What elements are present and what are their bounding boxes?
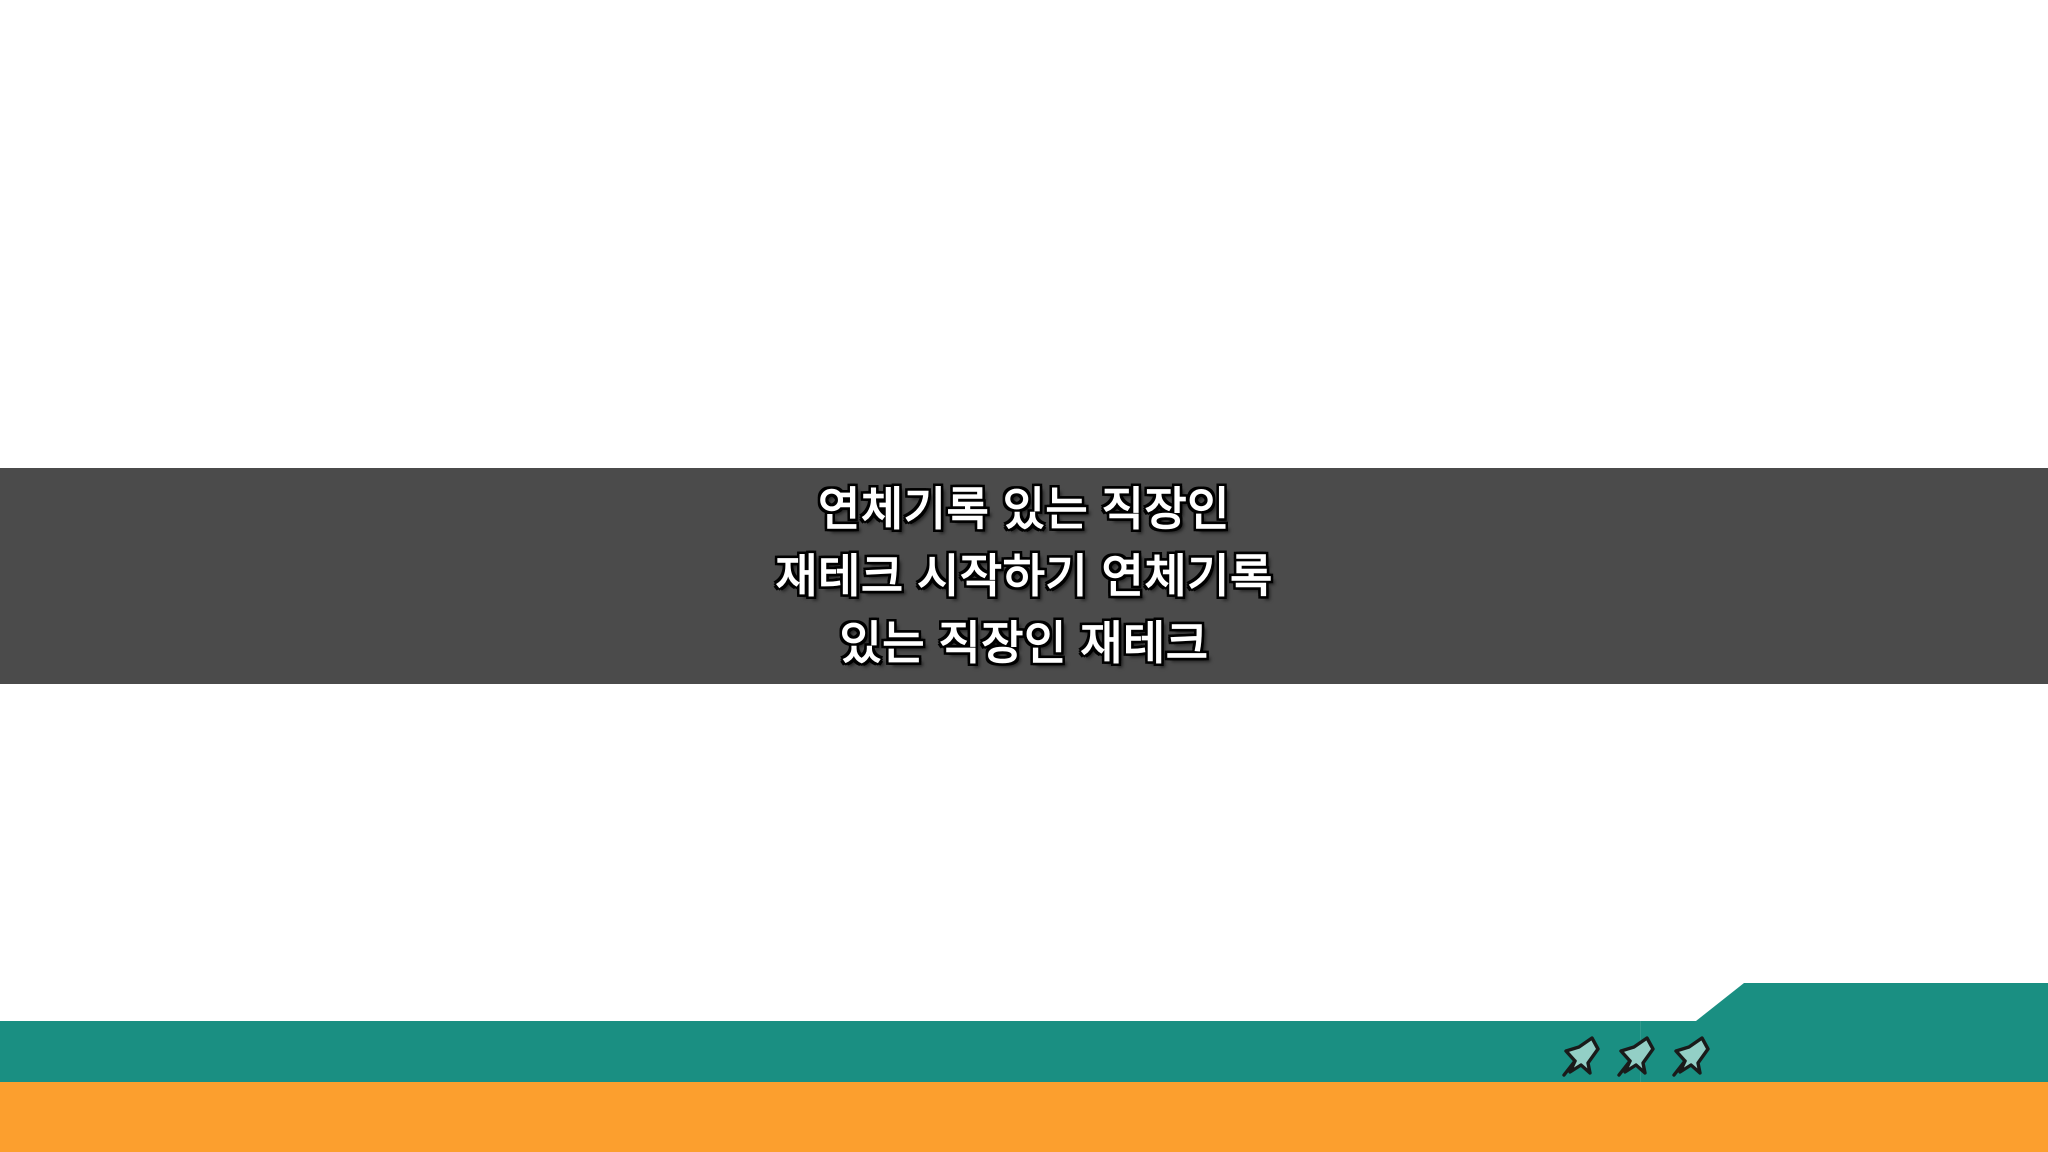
title-line-3: 있는 직장인 재테크 — [839, 610, 1208, 677]
title-line-2: 재테크 시작하기 연체기록 — [775, 543, 1273, 610]
sparkle-pin-icon-1[interactable] — [1562, 1033, 1600, 1077]
title-banner: 연체기록 있는 직장인 재테크 시작하기 연체기록 있는 직장인 재테크 — [0, 468, 2048, 684]
sparkle-pin-icon-2[interactable] — [1617, 1033, 1655, 1077]
teal-raised-tab — [1696, 983, 2048, 1082]
top-blank-area — [0, 0, 2048, 468]
middle-blank-area — [0, 684, 2048, 1021]
title-line-1: 연체기록 있는 직장인 — [818, 476, 1230, 543]
sparkle-pin-icon-3[interactable] — [1672, 1033, 1710, 1077]
footer-bars — [0, 980, 2048, 1152]
sparkle-icon-row — [1562, 1033, 1710, 1077]
screenshot-canvas: 연체기록 있는 직장인 재테크 시작하기 연체기록 있는 직장인 재테크 — [0, 0, 2048, 1152]
orange-band — [0, 1082, 2048, 1152]
